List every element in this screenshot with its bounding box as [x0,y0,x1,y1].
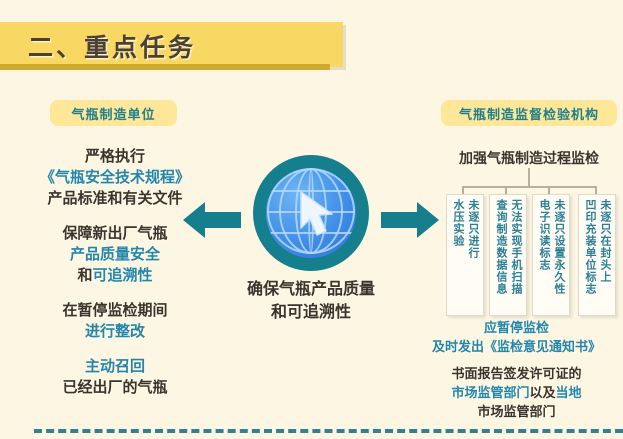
left-line: 主动召回 [6,356,224,377]
right-note-line: 应暂停监检 [410,318,623,337]
left-block-3: 在暂停监检期间 进行整改 [6,300,224,342]
center-caption: 确保气瓶产品质量 和可追溯性 [221,278,401,324]
left-line: 《气瓶安全技术规程》 [6,167,224,188]
left-line-part: 可追溯性 [93,267,153,284]
issue-box-sub: 凹印充装单位标志 [582,199,597,295]
left-line: 产品质量安全 [6,244,224,265]
issue-box-main: 无法实现手机扫描 [508,199,523,295]
globe-cursor-icon [253,155,369,271]
right-footer-part: 市场监管部门 [451,385,529,400]
bottom-divider [34,429,623,433]
badge-inspection-agency: 气瓶制造监督检验机构 [441,100,617,126]
arrow-left-icon [183,199,241,241]
left-line: 进行整改 [6,321,224,342]
right-footer-part: 以及 [529,385,555,400]
globe-sphere [266,168,356,258]
issue-box-sub: 查询制造数据信息 [493,199,508,295]
right-heading: 加强气瓶制造过程监检 [441,148,617,168]
center-caption-line: 确保气瓶产品质量 [221,278,401,301]
issue-box-main: 未逐只进行 [465,199,480,259]
section-title-underline [0,64,330,70]
page-title: 二、重点任务 [28,28,196,64]
right-footer-line: 书面报告签发许可证的 [410,364,623,383]
issue-box-main: 未逐只在封头上 [597,199,612,283]
issue-box: 未逐只设置永久性 电子识读标志 [532,194,570,316]
connector-stem [528,168,530,186]
issue-box: 无法实现手机扫描 查询制造数据信息 [489,194,527,316]
right-footer-line: 市场监管部门 [410,402,623,421]
issue-box-sub: 电子识读标志 [536,199,551,271]
left-block-4: 主动召回 已经出厂的气瓶 [6,356,224,398]
badge-manufacturer: 气瓶制造单位 [50,100,177,126]
issue-box-sub: 水压实验 [450,199,465,247]
connector-bar [462,186,596,188]
right-note-line: 及时发出《监检意见通知书》 [410,337,623,356]
left-line-mixed: 和可追溯性 [6,265,224,286]
left-line: 在暂停监检期间 [6,300,224,321]
issue-box: 未逐只在封头上 凹印充装单位标志 [578,194,616,316]
issue-box-main: 未逐只设置永久性 [551,199,566,295]
left-duties-list: 严格执行 《气瓶安全技术规程》 产品标准和有关文件 保障新出厂气瓶 产品质量安全… [6,146,224,412]
right-footer-part: 当地 [556,385,582,400]
left-line: 已经出厂的气瓶 [6,377,224,398]
arrow-right-icon [381,199,439,241]
right-footer: 书面报告签发许可证的 市场监管部门以及当地 市场监管部门 [410,364,623,421]
center-caption-line: 和可追溯性 [221,301,401,324]
left-line: 严格执行 [6,146,224,167]
right-note: 应暂停监检 及时发出《监检意见通知书》 [410,318,623,356]
right-footer-line-mixed: 市场监管部门以及当地 [410,383,623,402]
left-line-part: 和 [77,267,92,284]
issue-box: 未逐只进行 水压实验 [446,194,484,316]
